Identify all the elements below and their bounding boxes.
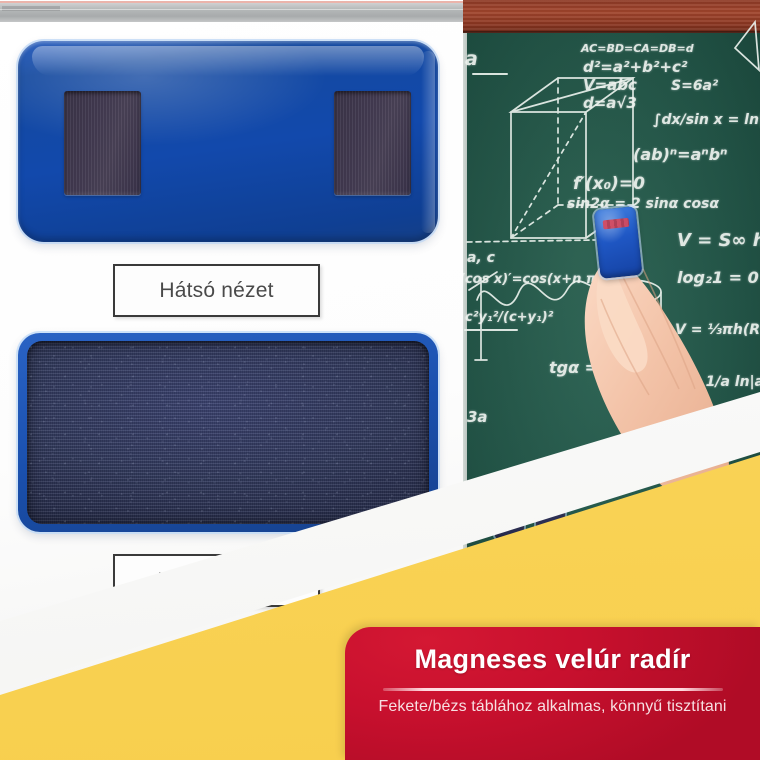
promo-banner-divider — [383, 688, 723, 691]
top-grey-bar — [0, 3, 463, 22]
product-image-canvas: Hátsó nézet Elölről nézet — [0, 0, 760, 760]
magnet-pad-left — [64, 91, 141, 195]
held-eraser — [594, 206, 643, 279]
velour-pad-surface — [27, 341, 429, 524]
magnet-pad-right — [334, 91, 411, 195]
promo-banner-title: Magneses velúr radír — [363, 645, 742, 675]
callout-back-view: Hátsó nézet — [113, 264, 320, 317]
eraser-back-view-image — [18, 41, 438, 242]
promo-banner-subtitle: Fekete/bézs táblához alkalmas, könnyű ti… — [363, 696, 742, 717]
gloss-highlight-top — [32, 46, 424, 76]
velour-fiber-texture — [27, 341, 429, 524]
eraser-front-view-image — [18, 333, 438, 532]
promo-banner: Magneses velúr radír Fekete/bézs tábláho… — [345, 627, 760, 760]
grey-bar-nub — [2, 6, 60, 11]
held-eraser-label — [603, 218, 630, 230]
callout-back-view-label: Hátsó nézet — [159, 279, 273, 303]
gloss-highlight-right — [421, 51, 435, 233]
